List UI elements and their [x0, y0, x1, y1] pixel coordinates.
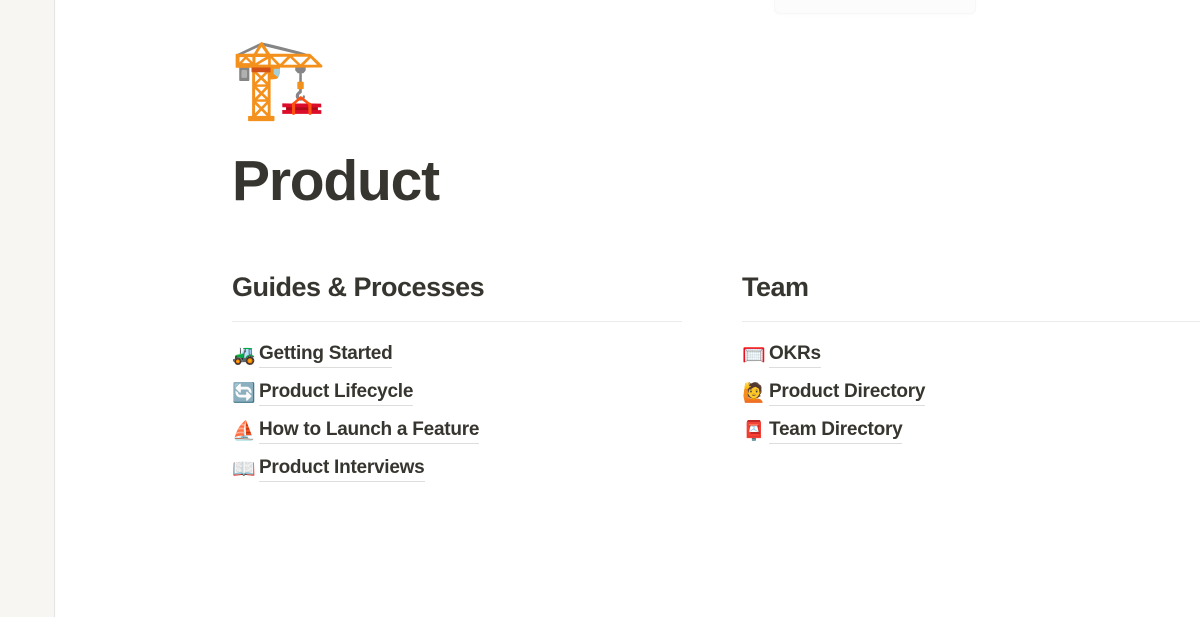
- goal-net-icon: 🥅: [742, 346, 769, 365]
- page-canvas: 🏗️ Product Guides & Processes 🚜 Getting …: [57, 0, 1200, 630]
- list-item[interactable]: 🥅 OKRs: [742, 343, 1200, 367]
- column-divider: [742, 321, 1200, 322]
- column-team: Team 🥅 OKRs 🙋 Product Directory 📮: [742, 271, 1200, 482]
- wiki-page-root: 🏗️ Product Guides & Processes 🚜 Getting …: [0, 0, 1200, 630]
- link-list: 🥅 OKRs 🙋 Product Directory 📮 Team Direct…: [742, 343, 1200, 443]
- column-list: Guides & Processes 🚜 Getting Started 🔄 P…: [232, 271, 1200, 482]
- column-heading: Team: [742, 271, 1200, 305]
- page-content: 🏗️ Product Guides & Processes 🚜 Getting …: [232, 0, 1200, 481]
- list-item[interactable]: 🙋 Product Directory: [742, 381, 1200, 405]
- page-title: Product: [232, 150, 1200, 213]
- page-link-how-to-launch-a-feature[interactable]: How to Launch a Feature: [259, 419, 479, 444]
- page-link-okrs[interactable]: OKRs: [769, 343, 821, 368]
- column-guides-processes: Guides & Processes 🚜 Getting Started 🔄 P…: [232, 271, 742, 482]
- page-icon[interactable]: 🏗️: [230, 40, 1200, 138]
- list-item[interactable]: 📮 Team Directory: [742, 419, 1200, 443]
- link-list: 🚜 Getting Started 🔄 Product Lifecycle ⛵ …: [232, 343, 742, 481]
- open-book-icon: 📖: [232, 460, 259, 479]
- column-divider: [232, 321, 682, 322]
- person-raising-hand-icon: 🙋: [742, 384, 769, 403]
- postbox-icon: 📮: [742, 422, 769, 441]
- counterclockwise-arrows-icon: 🔄: [232, 384, 259, 403]
- page-link-product-lifecycle[interactable]: Product Lifecycle: [259, 381, 413, 406]
- page-link-getting-started[interactable]: Getting Started: [259, 343, 392, 368]
- list-item[interactable]: ⛵ How to Launch a Feature: [232, 419, 742, 443]
- list-item[interactable]: 🚜 Getting Started: [232, 343, 742, 367]
- list-item[interactable]: 📖 Product Interviews: [232, 457, 742, 481]
- page-link-team-directory[interactable]: Team Directory: [769, 419, 902, 444]
- list-item[interactable]: 🔄 Product Lifecycle: [232, 381, 742, 405]
- sailboat-icon: ⛵: [232, 422, 259, 441]
- collapsed-sidebar-strip[interactable]: [0, 0, 55, 617]
- page-link-product-interviews[interactable]: Product Interviews: [259, 457, 425, 482]
- tractor-icon: 🚜: [232, 346, 259, 365]
- column-heading: Guides & Processes: [232, 271, 742, 305]
- page-link-product-directory[interactable]: Product Directory: [769, 381, 925, 406]
